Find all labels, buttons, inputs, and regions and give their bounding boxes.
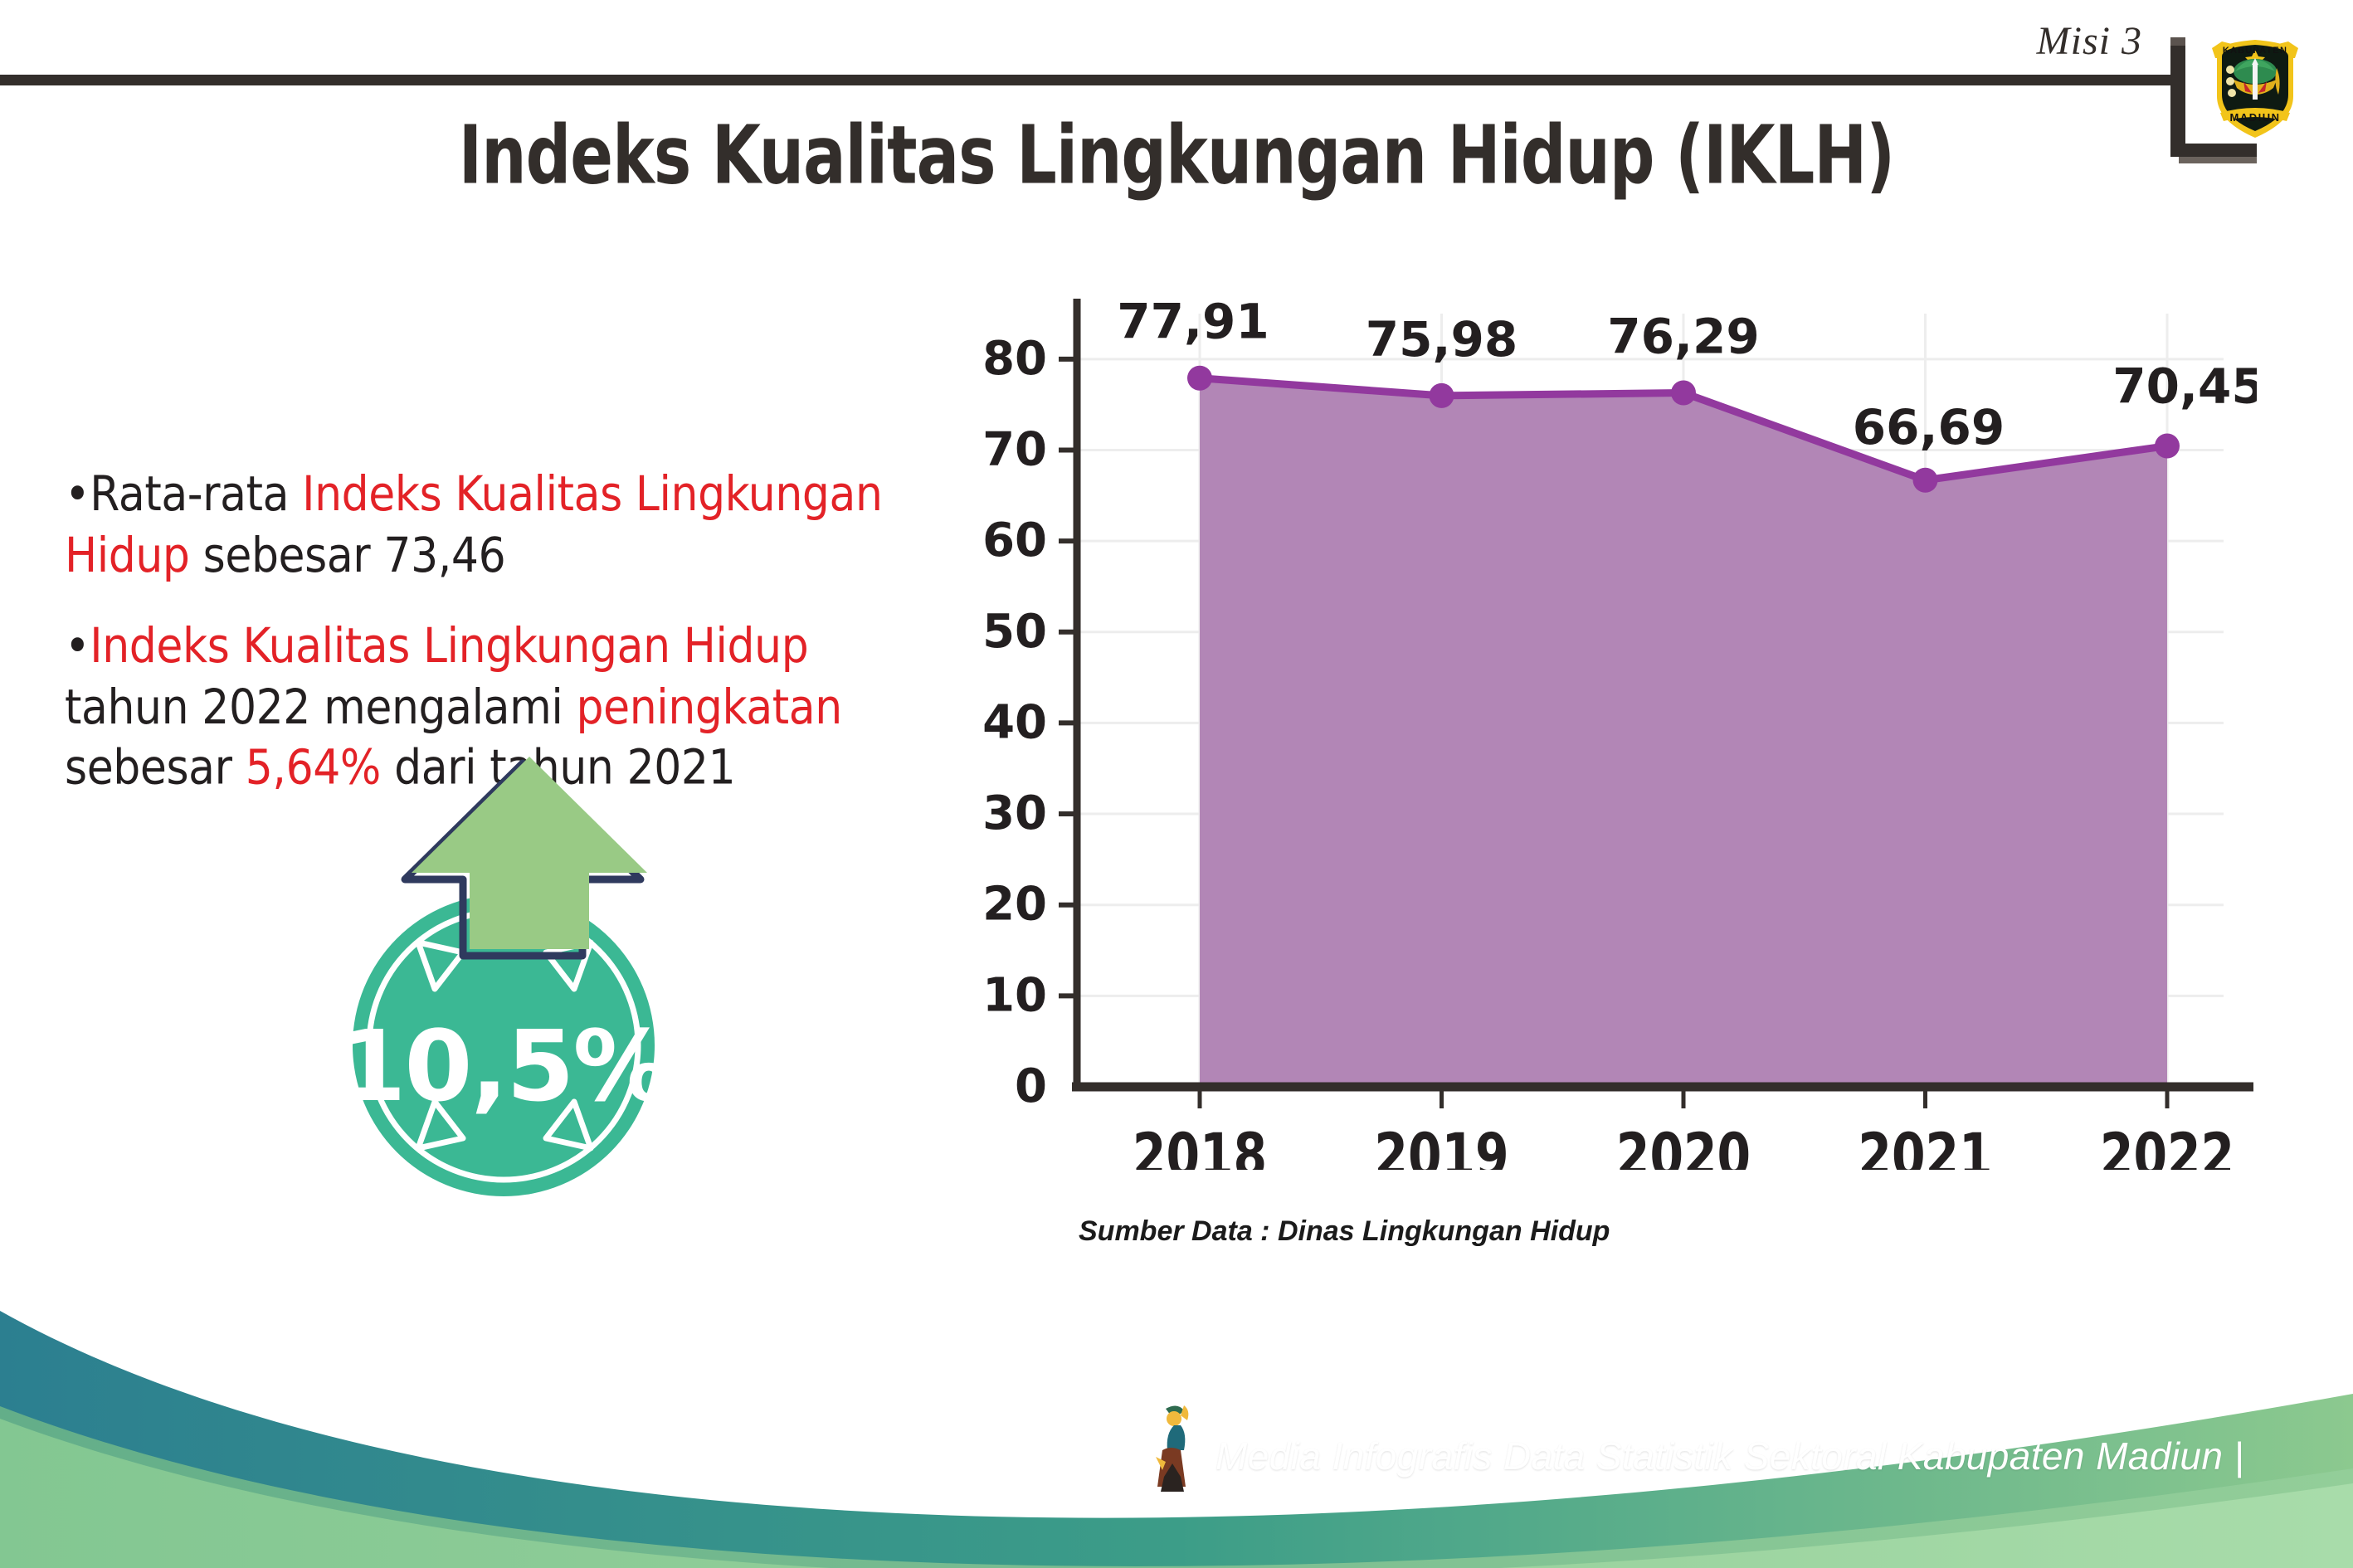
x-tick-label-2022: 2022 — [2100, 1121, 2234, 1170]
chart-source-note: Sumber Data : Dinas Lingkungan Hidup — [1079, 1215, 1610, 1248]
bullet-1-segment-0: • — [65, 618, 90, 674]
data-point-2021 — [1913, 468, 1938, 493]
header-rule — [0, 75, 2172, 85]
y-tick-label: 40 — [982, 695, 1047, 749]
data-point-2018 — [1187, 366, 1212, 391]
x-tick-label-2021: 2021 — [1858, 1121, 1992, 1170]
bullet-1-segment-2: tahun 2022 mengalami — [65, 679, 577, 735]
data-label-2021: 66,69 — [1853, 399, 2005, 455]
chart-y-axis-ticks: 01020304050607080 — [982, 332, 1077, 1113]
increase-badge: 10,5% — [309, 738, 748, 1203]
y-tick-label: 50 — [982, 605, 1047, 659]
page-title: Indeks Kualitas Lingkungan Hidup (IKLH) — [82, 110, 2270, 202]
bullet-0-segment-2: sebesar 73,46 — [190, 528, 506, 583]
infographic-slide: Misi 3 MADIUN KABUPATEN Indeks Kualitas … — [0, 0, 2353, 1568]
y-tick-label: 0 — [1015, 1059, 1047, 1113]
badge-graphic — [309, 738, 748, 1203]
y-tick-label: 80 — [982, 332, 1047, 386]
bullet-item-0: •Rata-rata Indeks Kualitas Lingkungan Hi… — [65, 465, 944, 587]
bullet-0-segment-0: •Rata-rata — [65, 466, 302, 522]
data-point-2022 — [2155, 434, 2180, 459]
data-label-2019: 75,98 — [1366, 311, 1518, 368]
x-tick-label-2020: 2020 — [1616, 1121, 1751, 1170]
y-tick-label: 10 — [982, 968, 1047, 1022]
svg-text:KABUPATEN: KABUPATEN — [2223, 46, 2287, 56]
data-label-2018: 77,91 — [1117, 294, 1269, 350]
data-label-2020: 76,29 — [1607, 309, 1759, 365]
data-point-2019 — [1430, 383, 1454, 408]
chart-series-area — [1200, 378, 2167, 1087]
y-tick-label: 60 — [982, 514, 1047, 567]
mascot-icon — [1141, 1397, 1215, 1497]
misi-label: Misi 3 — [2037, 18, 2142, 64]
y-tick-label: 30 — [982, 786, 1047, 840]
footer-caption: Media Infografis Data Statistik Sektoral… — [1215, 1434, 2244, 1478]
y-tick-label: 70 — [982, 422, 1047, 476]
bullet-1-segment-3: peningkatan — [577, 679, 842, 735]
data-point-2020 — [1671, 381, 1696, 406]
iklh-area-chart: 01020304050607080 20182019202020212022 7… — [979, 290, 2257, 1170]
bullet-1-segment-1: Indeks Kualitas Lingkungan Hidup — [90, 618, 808, 674]
data-label-2022: 70,45 — [2112, 358, 2257, 415]
y-tick-label: 20 — [982, 878, 1047, 932]
x-tick-label-2018: 2018 — [1133, 1121, 1267, 1170]
bullet-1-segment-4: sebesar — [65, 740, 246, 796]
chart-x-axis-labels: 20182019202020212022 — [1133, 1087, 2234, 1170]
x-tick-label-2019: 2019 — [1374, 1121, 1508, 1170]
